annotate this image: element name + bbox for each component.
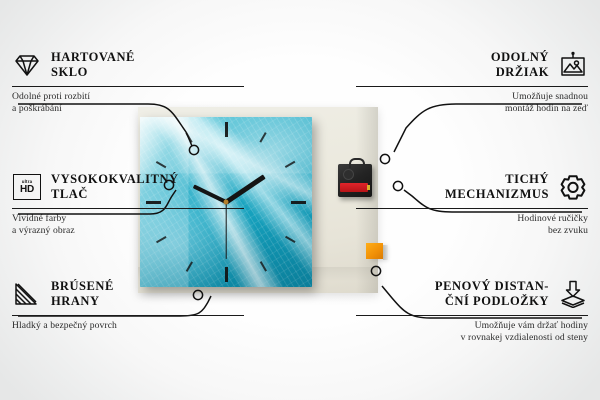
feature-title-line1: TICHÝ bbox=[445, 172, 549, 187]
feature-ground-edges: BRÚSENÉ HRANY Hladký a bezpečný povrch bbox=[12, 279, 244, 332]
feature-title-line1: BRÚSENÉ bbox=[51, 279, 114, 294]
feature-description: Umožňuje vám držať hodiny v rovnakej vzd… bbox=[356, 320, 588, 346]
ultra-hd-badge: ultra HD bbox=[13, 174, 41, 200]
feature-title: ODOLNÝ DRŽIAK bbox=[491, 50, 549, 81]
press-down-layers-icon bbox=[558, 279, 588, 309]
feature-description: Umožňuje snadnou montáž hodin na zeď bbox=[356, 91, 588, 117]
mechanism-hanger-hook bbox=[349, 158, 365, 168]
feature-divider bbox=[12, 208, 244, 209]
diamond-icon bbox=[12, 50, 42, 80]
feature-divider bbox=[356, 315, 588, 316]
feature-desc-line1: Hodinové ručičky bbox=[356, 213, 588, 226]
clock-tick-3 bbox=[291, 201, 306, 204]
feature-desc-line2: a poškrábání bbox=[12, 103, 244, 116]
feature-title-line2: MECHANIZMUS bbox=[445, 187, 549, 202]
feature-heading-row: PENOVÝ DISTAN- ČNÍ PODLOŽKY bbox=[356, 279, 588, 310]
feature-heading-row: HARTOVANÉ SKLO bbox=[12, 50, 244, 81]
feature-title-line2: TLAČ bbox=[51, 187, 179, 202]
feature-title: HARTOVANÉ SKLO bbox=[51, 50, 135, 81]
feature-title-line2: ČNÍ PODLOŽKY bbox=[435, 294, 549, 309]
feature-divider bbox=[356, 208, 588, 209]
feature-description: Hodinové ručičky bez zvuku bbox=[356, 213, 588, 239]
feature-description: Hladký a bezpečný povrch bbox=[12, 320, 244, 333]
feature-description: Vividné farby a výrazný obraz bbox=[12, 213, 244, 239]
feature-divider bbox=[12, 86, 244, 87]
feature-title: VYSOKOKVALITNÝ TLAČ bbox=[51, 172, 179, 203]
feature-title-line1: VYSOKOKVALITNÝ bbox=[51, 172, 179, 187]
ultra-hd-badge-hd: HD bbox=[20, 185, 34, 195]
feature-desc-line2: a výrazný obraz bbox=[12, 225, 244, 238]
feature-desc-line2: bez zvuku bbox=[356, 225, 588, 238]
feature-desc-line1: Umožňuje snadnou bbox=[356, 91, 588, 104]
feature-title-line1: PENOVÝ DISTAN- bbox=[435, 279, 549, 294]
feature-durable-hanger: ODOLNÝ DRŽIAK Umožňuje snadnou montáž ho… bbox=[356, 50, 588, 116]
feature-title: TICHÝ MECHANIZMUS bbox=[445, 172, 549, 203]
feature-desc-line1: Umožňuje vám držať hodiny bbox=[356, 320, 588, 333]
feature-title-line2: SKLO bbox=[51, 65, 135, 80]
feature-desc-line2: v rovnakej vzdialenosti od steny bbox=[356, 332, 588, 345]
feature-title: BRÚSENÉ HRANY bbox=[51, 279, 114, 310]
feature-tempered-glass: HARTOVANÉ SKLO Odolné proti rozbití a po… bbox=[12, 50, 244, 116]
feature-divider bbox=[12, 315, 244, 316]
feature-heading-row: ultra HD VYSOKOKVALITNÝ TLAČ bbox=[12, 172, 244, 203]
feature-foam-spacers: PENOVÝ DISTAN- ČNÍ PODLOŽKY Umožňuje vám… bbox=[356, 279, 588, 345]
feature-desc-line1: Hladký a bezpečný povrch bbox=[12, 320, 244, 333]
feature-divider bbox=[356, 86, 588, 87]
gear-icon bbox=[558, 172, 588, 202]
feature-desc-line1: Odolné proti rozbití bbox=[12, 91, 244, 104]
feature-title-line1: ODOLNÝ bbox=[491, 50, 549, 65]
mechanism-knob bbox=[343, 169, 354, 180]
feature-title: PENOVÝ DISTAN- ČNÍ PODLOŽKY bbox=[435, 279, 549, 310]
clock-tick-0 bbox=[225, 122, 228, 137]
feature-silent-mechanism: TICHÝ MECHANIZMUS Hodinové ručičky bez z… bbox=[356, 172, 588, 238]
feature-heading-row: ODOLNÝ DRŽIAK bbox=[356, 50, 588, 81]
beveled-edge-icon bbox=[12, 279, 42, 309]
feature-desc-line2: montáž hodin na zeď bbox=[356, 103, 588, 116]
feature-description: Odolné proti rozbití a poškrábání bbox=[12, 91, 244, 117]
picture-frame-hanger-icon bbox=[558, 50, 588, 80]
feature-title-line2: HRANY bbox=[51, 294, 114, 309]
feature-heading-row: BRÚSENÉ HRANY bbox=[12, 279, 244, 310]
ultra-hd-icon: ultra HD bbox=[12, 172, 42, 202]
feature-title-line1: HARTOVANÉ bbox=[51, 50, 135, 65]
infographic-canvas: HARTOVANÉ SKLO Odolné proti rozbití a po… bbox=[0, 0, 600, 400]
connector-node-4 bbox=[380, 154, 389, 163]
feature-desc-line1: Vividné farby bbox=[12, 213, 244, 226]
foam-spacer-pad bbox=[366, 243, 383, 259]
feature-title-line2: DRŽIAK bbox=[491, 65, 549, 80]
feature-high-quality-print: ultra HD VYSOKOKVALITNÝ TLAČ Vividné far… bbox=[12, 172, 244, 238]
feature-heading-row: TICHÝ MECHANIZMUS bbox=[356, 172, 588, 203]
